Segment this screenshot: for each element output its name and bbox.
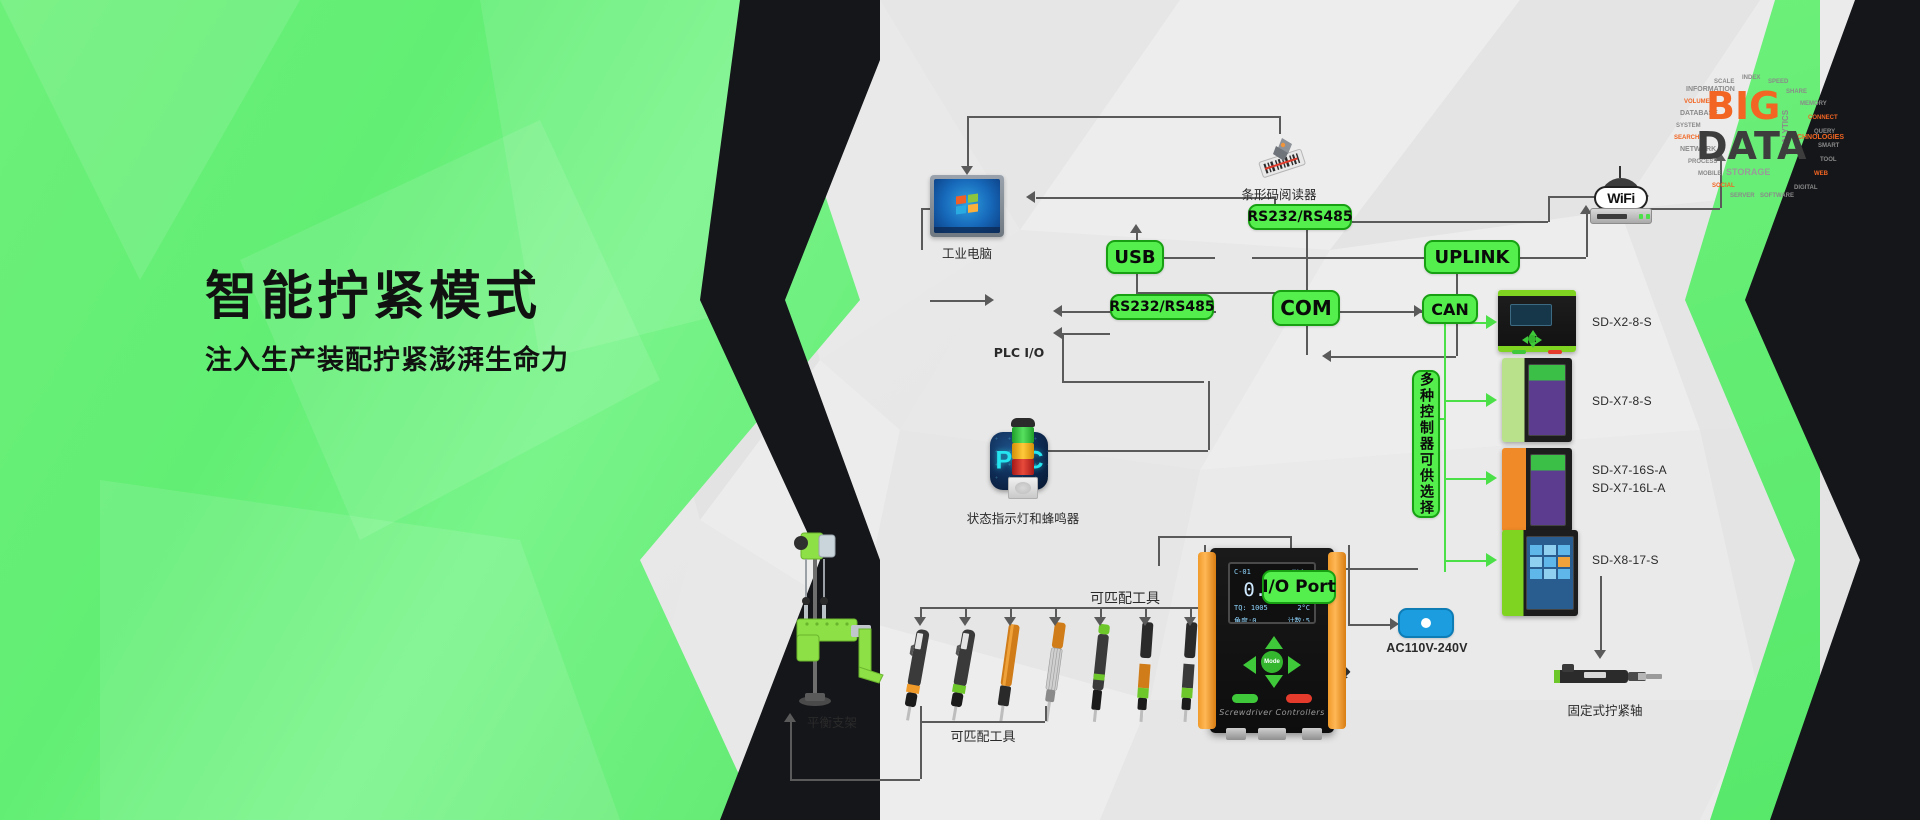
controller-connector-left [1226, 728, 1246, 740]
badge-rs232-left[interactable]: RS232/RS485 [1110, 294, 1214, 320]
hero-headline: 智能拧紧模式 注入生产装配拧紧澎湃生命力 [205, 268, 569, 377]
line-uplink-can [1456, 273, 1458, 293]
line-arm-h [790, 779, 920, 781]
lamp-cap [1011, 418, 1035, 427]
arrow-family-1 [1486, 315, 1497, 329]
tool-screwdriver-1[interactable] [898, 625, 932, 725]
arrow-spindle [1594, 650, 1606, 659]
arrow-usb-up [1130, 224, 1142, 233]
industrial-pc-label: 工业电脑 [896, 243, 1038, 262]
line-pc-top-bus [967, 116, 1279, 118]
line-spindle-v [1600, 576, 1602, 654]
badge-multi-controller[interactable]: 多种控制器可供选择 [1412, 370, 1440, 518]
line-pc-top-drop [967, 116, 969, 171]
tool-screwdriver-3[interactable] [990, 622, 1024, 726]
key-down-icon[interactable] [1265, 675, 1283, 688]
line-can-ctrl [1330, 356, 1456, 358]
svg-text:SHARE: SHARE [1786, 89, 1807, 95]
key-return-button[interactable] [1232, 694, 1258, 703]
line-io-top-bus [1158, 536, 1292, 538]
badge-io-port[interactable]: I/O Port [1262, 570, 1336, 604]
badge-usb[interactable]: USB [1106, 240, 1164, 274]
balance-arm-device[interactable] [775, 525, 885, 720]
svg-text:MEMORY: MEMORY [1800, 101, 1827, 107]
svg-text:MOBILE: MOBILE [1698, 171, 1721, 177]
compatible-tools-top-label: 可匹配工具 [1060, 588, 1190, 608]
controller-model-1-label: SD-X2-8-S [1592, 315, 1652, 329]
wifi-base [1590, 208, 1652, 224]
lamp-amber [1012, 443, 1034, 459]
controller-model-2-label: SD-X7-8-S [1592, 394, 1652, 408]
arrow-pc-top [961, 166, 973, 175]
pc-taskbar [934, 227, 1000, 233]
badge-uplink[interactable]: UPLINK [1424, 240, 1520, 274]
big-data-wordcloud: INFORMATION VOLUME DATABASE SYSTEM SEARC… [1668, 55, 1858, 205]
line-io-top-drop [1158, 536, 1160, 566]
compatible-tools-bottom-label: 可匹配工具 [918, 726, 1048, 745]
arrow-t3 [1004, 617, 1016, 626]
line-lamp-h [1030, 450, 1208, 452]
arrow-plc-left [985, 294, 994, 306]
line-tools-bottom [920, 721, 1045, 723]
svg-text:STORAGE: STORAGE [1726, 167, 1770, 177]
svg-text:SMART: SMART [1818, 143, 1840, 149]
key-onoff-button[interactable] [1286, 694, 1312, 703]
barcode-reader-device[interactable] [1248, 134, 1310, 180]
arrow-pc-right [1026, 191, 1035, 203]
line-uplink-bus [1252, 257, 1586, 259]
controller-model-1[interactable] [1498, 290, 1576, 352]
badge-com[interactable]: COM [1272, 290, 1340, 326]
controller-model-4-label: SD-X8-17-S [1592, 553, 1659, 567]
svg-text:SERVER: SERVER [1730, 193, 1755, 199]
svg-text:SOFTWARE: SOFTWARE [1760, 193, 1794, 199]
banner-stage: 智能拧紧模式 注入生产装配拧紧澎湃生命力 [0, 0, 1920, 820]
controller-rail-left [1198, 552, 1216, 729]
controller-brand: Screwdriver Controllers [1196, 708, 1348, 717]
svg-text:INDEX: INDEX [1742, 75, 1760, 81]
screen-temp: 2°C [1297, 604, 1310, 612]
fixed-spindle-device[interactable] [1538, 660, 1668, 699]
screen-count: 计数:5 [1288, 616, 1310, 624]
arrow-family-2 [1486, 393, 1497, 407]
line-plc-low-bus [1062, 381, 1204, 383]
key-left-icon[interactable] [1243, 656, 1256, 674]
wifi-router-device[interactable]: WiFi [1588, 172, 1654, 224]
tool-screwdriver-4[interactable] [1036, 620, 1070, 726]
badge-rs232-top[interactable]: RS232/RS485 [1248, 204, 1352, 230]
line-tb-r [1045, 706, 1047, 721]
line-family-b3 [1444, 478, 1488, 480]
key-mode-button[interactable]: Mode [1261, 651, 1283, 673]
svg-text:CONNECT: CONNECT [1808, 115, 1838, 121]
arrow-t2 [959, 617, 971, 626]
barcode-reader-label: 条形码阅读器 [1208, 184, 1350, 203]
controller-model-3[interactable] [1502, 448, 1572, 532]
badge-power-plug[interactable] [1398, 608, 1454, 638]
arrow-ctrl-can [1322, 350, 1331, 362]
key-up-icon[interactable] [1265, 636, 1283, 649]
controller-connector-mid [1258, 728, 1286, 740]
badge-can[interactable]: CAN [1422, 294, 1478, 324]
controller-model-4[interactable] [1502, 530, 1578, 616]
line-com-can [1340, 311, 1422, 313]
lamp-green [1012, 427, 1034, 443]
line-power-v [1348, 545, 1350, 624]
power-label: AC110V-240V [1378, 641, 1476, 655]
svg-text:DIGITAL: DIGITAL [1794, 185, 1818, 191]
line-usb-right [1163, 257, 1215, 259]
hero-title: 智能拧紧模式 [205, 268, 569, 328]
bigdata-big-word: BIG [1706, 84, 1780, 128]
hero-subtitle: 注入生产装配拧紧澎湃生命力 [205, 338, 569, 377]
line-power-h [1348, 624, 1396, 626]
controller-model-3-label: SD-X7-16S-A [1592, 463, 1667, 477]
line-plc-low-h [1062, 333, 1110, 335]
line-plc-left [930, 300, 990, 302]
line-barcode-up [1279, 116, 1281, 134]
bigdata-data-word: DATA [1696, 124, 1807, 168]
pc-screen [934, 179, 1000, 233]
arrow-plc-low [1053, 327, 1062, 339]
tool-screwdriver-5[interactable] [1084, 622, 1114, 724]
arrow-t4 [1049, 617, 1061, 626]
controller-model-3-label-alt: SD-X7-16L-A [1592, 481, 1666, 495]
svg-text:WEB: WEB [1814, 171, 1829, 177]
arrow-t7 [1184, 617, 1196, 626]
status-light-label: 状态指示灯和蜂鸣器 [948, 508, 1098, 527]
controller-keypad[interactable]: Mode [1243, 636, 1301, 688]
screen-angle: 角度:0 [1234, 616, 1256, 624]
controller-connector-right [1302, 728, 1322, 740]
arrow-t5 [1094, 617, 1106, 626]
screen-channel: C-01 [1234, 568, 1251, 578]
balance-arm-label: 平衡支架 [742, 712, 922, 731]
wifi-antenna-icon [1619, 166, 1621, 178]
line-lamp-v [1208, 381, 1210, 450]
svg-text:SOCIAL: SOCIAL [1712, 183, 1735, 189]
svg-text:TOOL: TOOL [1820, 157, 1837, 163]
plc-io-label: PLC I/O [974, 345, 1064, 360]
lamp-red [1012, 459, 1034, 475]
arrow-family-4 [1486, 553, 1497, 567]
status-light-device[interactable] [1008, 418, 1038, 500]
power-dot-icon [1421, 618, 1431, 628]
line-family-b2 [1444, 400, 1488, 402]
lamp-buzzer-base [1008, 477, 1038, 499]
fixed-spindle-label: 固定式拧紧轴 [1520, 700, 1690, 719]
industrial-pc-device[interactable] [930, 175, 1004, 237]
line-rs232-right [1352, 221, 1548, 223]
tool-screwdriver-6[interactable] [1128, 620, 1160, 724]
wifi-icon: WiFi [1594, 186, 1648, 210]
key-right-icon[interactable] [1288, 656, 1301, 674]
arrow-t6 [1139, 617, 1151, 626]
line-rs232-up [1548, 196, 1550, 222]
tool-screwdriver-2[interactable] [944, 625, 978, 725]
line-family-spine [1444, 322, 1446, 572]
arrow-t1 [914, 617, 926, 626]
arrow-family-3 [1486, 471, 1497, 485]
screen-tq-info: TQ: 1005 [1234, 604, 1268, 612]
line-family-b4 [1444, 560, 1488, 562]
windows-logo-icon [956, 193, 978, 214]
arrow-plc-right [1053, 305, 1062, 317]
line-rs232-plc [1061, 311, 1111, 313]
controller-model-2[interactable] [1502, 358, 1572, 442]
